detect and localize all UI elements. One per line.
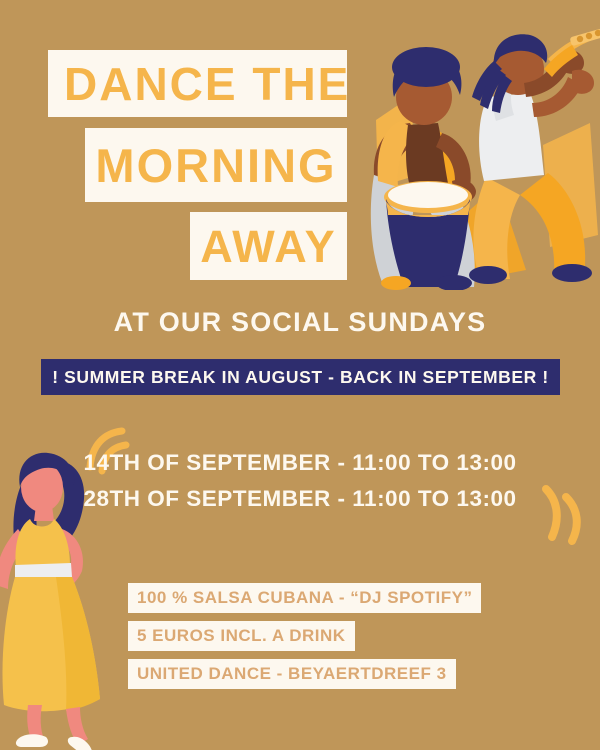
subtitle: AT OUR SOCIAL SUNDAYS [0, 307, 600, 338]
info-box-list: 100 % SALSA CUBANA - “DJ SPOTIFY” 5 EURO… [128, 583, 481, 697]
musicians-illustration [358, 25, 600, 290]
headline-line-1-box: DANCE THE [48, 50, 347, 117]
headline-line-1: DANCE THE [64, 61, 350, 107]
info-box-text: UNITED DANCE - BEYAERTDREEF 3 [137, 664, 447, 684]
summer-break-banner-text: ! SUMMER BREAK IN AUGUST - BACK IN SEPTE… [52, 367, 549, 388]
poster-canvas: DANCE THE MORNING AWAY AT OUR SOCIAL SUN… [0, 0, 600, 750]
info-box: 100 % SALSA CUBANA - “DJ SPOTIFY” [128, 583, 481, 613]
headline-line-3-box: AWAY [190, 212, 347, 280]
info-box-row: UNITED DANCE - BEYAERTDREEF 3 [128, 659, 481, 697]
headline-line-3: AWAY [200, 224, 336, 269]
headline-line-2-box: MORNING [85, 128, 347, 202]
date-line: 14TH OF SEPTEMBER - 11:00 TO 13:00 [0, 452, 600, 475]
date-line: 28TH OF SEPTEMBER - 11:00 TO 13:00 [0, 488, 600, 511]
dates-list: 14TH OF SEPTEMBER - 11:00 TO 13:00 28TH … [0, 452, 600, 523]
info-box: 5 EUROS INCL. A DRINK [128, 621, 355, 651]
info-box-row: 5 EUROS INCL. A DRINK [128, 621, 481, 659]
info-box-row: 100 % SALSA CUBANA - “DJ SPOTIFY” [128, 583, 481, 621]
info-box-text: 5 EUROS INCL. A DRINK [137, 626, 346, 646]
headline-line-2: MORNING [95, 142, 336, 189]
info-box-text: 100 % SALSA CUBANA - “DJ SPOTIFY” [137, 588, 472, 608]
summer-break-banner: ! SUMMER BREAK IN AUGUST - BACK IN SEPTE… [41, 359, 560, 395]
info-box: UNITED DANCE - BEYAERTDREEF 3 [128, 659, 456, 689]
